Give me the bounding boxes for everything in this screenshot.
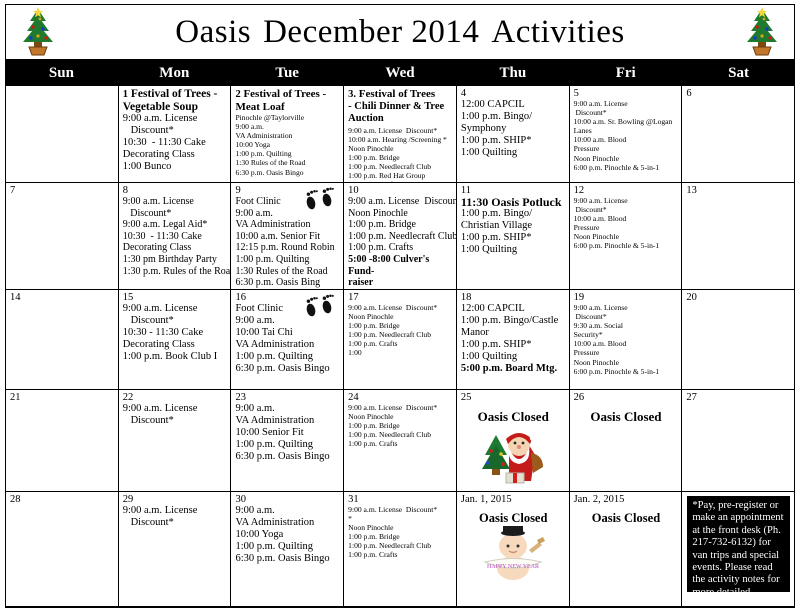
event-item: 1:00 (348, 348, 453, 357)
event-list: 9:00 a.m.VA Administration10:00 Yoga1:00… (235, 505, 340, 565)
event-item: 10:30 - 11:30 Cake (123, 327, 228, 339)
event-item: 9:30 a.m. Social (574, 321, 679, 330)
event-item: Noon Pinochle (574, 154, 679, 163)
christmas-tree-icon (16, 7, 60, 57)
day-number: 30 (235, 494, 340, 505)
event-item: Decorating Class (123, 339, 228, 351)
event-item: Noon Pinochle (348, 208, 453, 220)
calendar-day-cell[interactable]: 26Oasis Closed (570, 390, 683, 491)
calendar-day-cell[interactable]: 28 (6, 492, 119, 606)
event-item: 6:30 p.m. Oasis Bingo (235, 168, 340, 177)
weekday-header-row: SunMonTueWedThuFriSat (5, 60, 795, 86)
event-item: 1:30 p.m. Rules of the Road (123, 266, 228, 278)
event-item: Decorating Class (123, 149, 228, 161)
event-item: 9:00 a.m. License Discount* (348, 505, 453, 514)
event-item: 10:00 Senior Fit (235, 427, 340, 439)
weekday-header-fri: Fri (569, 65, 682, 82)
event-item: Noon Pinochle (348, 412, 453, 421)
event-list: 9:00 a.m. License Discount**Noon Pinochl… (348, 505, 453, 560)
santa-with-tree-image (476, 425, 550, 487)
event-list: 9:00 a.m. License Discount*10:00 a.m. Sr… (574, 99, 679, 172)
event-item: 1:00 p.m. Needlecraft Club (348, 330, 453, 339)
day-number: 8 (123, 185, 228, 196)
day-number: 27 (686, 392, 791, 403)
event-list: 9:00 a.m. License Discount* (123, 403, 228, 427)
legend-note-box: *Pay, pre-register or make an appointmen… (687, 496, 790, 592)
day-number: 17 (348, 292, 453, 303)
event-list: 9:00 a.m. License Discount*10:00 a.m. He… (348, 126, 453, 183)
event-item: Noon Pinochle (348, 312, 453, 321)
event-item: 9:00 a.m. License (123, 303, 228, 315)
event-item: Noon Pinochle (574, 232, 679, 241)
day-number: 19 (574, 292, 679, 303)
day-number: 18 (461, 292, 566, 303)
event-item: 1:00 p.m. Quilting (235, 254, 340, 266)
event-item: 1:00 p.m. Bingo/ (461, 208, 566, 220)
event-item: 1:00 p.m. Bridge (348, 532, 453, 541)
event-highlight: 11:30 Oasis Potluck (461, 196, 566, 208)
event-list: 9:00 a.m. License Discount*10:00 a.m. Bl… (574, 196, 679, 251)
event-list: 12:00 CAPCIL1:00 p.m. Bingo/CastleManor1… (461, 303, 566, 363)
event-list: 9:00 a.m. License Discount* (123, 505, 228, 529)
event-item: Discount* (123, 208, 228, 220)
calendar-day-cell[interactable]: 13 (682, 183, 794, 289)
event-item: 10:00 a.m. Blood (574, 135, 679, 144)
event-item: 9:00 a.m. (235, 403, 340, 415)
day-number: 6 (686, 88, 791, 99)
event-item: 1:00 p.m. Crafts (348, 180, 453, 182)
event-list: 9:00 a.m. License Discount*Noon Pinochle… (348, 196, 453, 254)
calendar-day-cell[interactable]: 27 (682, 390, 794, 491)
event-item: Pressure (574, 223, 679, 232)
event-item: 9:00 a.m. Legal Aid* (123, 219, 228, 231)
event-item: 1:00 p.m. Needlecraft Club (348, 231, 453, 243)
new-year-baby-image: HAPPY NEW YEAR (477, 526, 549, 582)
weekday-header-tue: Tue (231, 65, 344, 82)
title-month: December 2014 (263, 14, 479, 50)
event-item: 9:00 a.m. License Discount* (348, 303, 453, 312)
day-header-with-title: 3. Festival of Trees (348, 88, 453, 101)
event-item: * (348, 514, 453, 523)
event-item: 9:00 a.m. License Discount* (348, 403, 453, 412)
svg-text:HAPPY NEW YEAR: HAPPY NEW YEAR (487, 564, 539, 570)
event-item: Noon Pinochle (348, 144, 453, 153)
event-item: 1:00 p.m. Quilting (235, 541, 340, 553)
calendar-week-row: 14159:00 a.m. License Discount*10:30 - 1… (6, 290, 794, 390)
event-item: 10:30 - 11:30 Cake (123, 231, 228, 243)
event-list: 9:00 a.m.VA Administration10:00 Senior F… (235, 403, 340, 463)
event-item: 1:00 Quilting (461, 147, 566, 159)
calendar-day-cell[interactable]: 412:00 CAPCIL1:00 p.m. Bingo/Symphony1:0… (457, 86, 570, 182)
event-item: Lanes (574, 126, 679, 135)
weekday-header-mon: Mon (118, 65, 231, 82)
calendar-day-cell[interactable]: Jan. 1, 2015Oasis ClosedHAPPY NEW YEAR (457, 492, 570, 606)
calendar-day-cell[interactable]: 25Oasis Closed (457, 390, 570, 491)
day-number: 28 (10, 494, 115, 505)
title-org: Oasis (175, 14, 251, 50)
event-item: 1:00 p.m. Red Hat Group (348, 171, 453, 180)
event-item: Pressure (574, 144, 679, 153)
calendar-day-cell[interactable]: 199:00 a.m. License Discount*9:30 a.m. S… (570, 290, 683, 389)
event-item: 1:00 p.m. Quilting (235, 149, 340, 158)
event-item: Symphony (461, 123, 566, 135)
event-item: VA Administration (235, 131, 340, 140)
calendar-day-cell[interactable]: 1111:30 Oasis Potluck1:00 p.m. Bingo/Chr… (457, 183, 570, 289)
calendar-day-cell[interactable]: 319:00 a.m. License Discount**Noon Pinoc… (344, 492, 457, 606)
weekday-header-sat: Sat (682, 65, 795, 82)
calendar-day-cell[interactable]: 21 (6, 390, 119, 491)
event-item: 1:00 p.m. SHIP* (461, 232, 566, 244)
event-list: Pinochle @Taylorville9:00 a.m.VA Adminis… (235, 113, 340, 177)
calendar-day-cell-empty[interactable]: *Pay, pre-register or make an appointmen… (682, 492, 794, 606)
day-number: 21 (10, 392, 115, 403)
day-title: Festival of Trees (359, 88, 435, 100)
event-highlight: 5:00 -8:00 Culver's Fund- (348, 254, 453, 277)
event-item: 9:00 a.m. License Discount* (348, 196, 453, 208)
event-item: 1:00 p.m. Crafts (348, 550, 453, 559)
event-item: Manor (461, 327, 566, 339)
day-number: 25 (461, 392, 566, 403)
event-item: 1:00 p.m. Bridge (348, 321, 453, 330)
event-item: 10:00 a.m. Hearing /Screening * (348, 135, 453, 144)
event-list: 9:00 a.m. License Discount*Noon Pinochle… (348, 303, 453, 358)
event-item: 12:00 CAPCIL (461, 303, 566, 315)
weekday-header-sun: Sun (5, 65, 118, 82)
event-highlight: 5:00 p.m. Board Mtg. (461, 363, 566, 375)
calendar-day-cell[interactable]: 309:00 a.m.VA Administration10:00 Yoga1:… (231, 492, 344, 606)
calendar-day-cell-empty[interactable] (6, 86, 119, 182)
day-number: 13 (686, 185, 791, 196)
date-label: Jan. 1, 2015 (461, 494, 566, 505)
calendar-week-row: 21229:00 a.m. License Discount*239:00 a.… (6, 390, 794, 492)
event-item: 12:15 p.m. Round Robin (235, 242, 340, 254)
event-item: 9:00 a.m. License (123, 113, 228, 125)
event-item: 9:00 a.m. License (123, 196, 228, 208)
day-number: 3. (348, 89, 356, 100)
day-number: 20 (686, 292, 791, 303)
day-number: 14 (10, 292, 115, 303)
weekday-header-wed: Wed (344, 65, 457, 82)
event-item: 1:00 p.m. Quilting (235, 351, 340, 363)
event-item: Discount* (574, 312, 679, 321)
event-item: 1:00 p.m. Quilting (235, 439, 340, 451)
event-item: Pressure (574, 348, 679, 357)
event-item: 6:30 p.m. Oasis Bingo (235, 553, 340, 565)
event-item: 10:00 a.m. Senior Fit (235, 231, 340, 243)
event-item: Discount* (574, 108, 679, 117)
calendar-day-cell[interactable]: 1812:00 CAPCIL1:00 p.m. Bingo/CastleMano… (457, 290, 570, 389)
day-number: 15 (123, 292, 228, 303)
day-number: 31 (348, 494, 453, 505)
calendar-day-cell[interactable]: 159:00 a.m. License Discount*10:30 - 11:… (119, 290, 232, 389)
day-number: 23 (235, 392, 340, 403)
event-item: 9:00 a.m. License (574, 303, 679, 312)
event-item: 9:00 a.m. License (574, 196, 679, 205)
event-item: 1:00 p.m. Crafts (348, 439, 453, 448)
event-item: Noon Pinochle (348, 523, 453, 532)
day-number: 26 (574, 392, 679, 403)
calendar-day-cell[interactable]: Jan. 2, 2015Oasis Closed (570, 492, 683, 606)
calendar-week-row: 1 Festival of Trees - Vegetable Soup9:00… (6, 86, 794, 183)
event-item: Discount* (574, 205, 679, 214)
day-title: Festival of Trees - Vegetable Soup (123, 88, 218, 113)
day-number: 29 (123, 494, 228, 505)
event-item: 10:00 Tai Chi (235, 327, 340, 339)
event-item: 1:00 p.m. Needlecraft Club (348, 162, 453, 171)
event-item: 1:00 p.m. Needlecraft Club (348, 541, 453, 550)
event-item: 6:30 p.m. Oasis Bingo (235, 363, 340, 375)
event-item: 1:00 p.m. SHIP* (461, 339, 566, 351)
calendar-day-cell[interactable]: 239:00 a.m.VA Administration10:00 Senior… (231, 390, 344, 491)
event-item: 10:00 Yoga (235, 529, 340, 541)
event-item: 10:30 - 11:30 Cake (123, 137, 228, 149)
calendar-day-cell[interactable]: 299:00 a.m. License Discount* (119, 492, 232, 606)
event-item: 1:00 Quilting (461, 244, 566, 256)
event-item: 9:00 a.m. (235, 505, 340, 517)
event-item: 1:30 Rules of the Road (235, 158, 340, 167)
closed-notice: Oasis Closed (461, 409, 566, 425)
day-number: 2 (235, 89, 240, 100)
event-list: 9:00 a.m. License Discount*9:00 a.m. Leg… (123, 196, 228, 277)
event-item: VA Administration (235, 219, 340, 231)
footprints-icon (303, 187, 337, 213)
weekday-header-thu: Thu (456, 65, 569, 82)
christmas-tree-icon (740, 7, 784, 57)
calendar-page: OasisDecember 2014Activities SunMonTueWe… (0, 0, 800, 606)
day-header-with-title: 2 Festival of Trees - Meat Loaf (235, 88, 340, 113)
event-item: 9:00 a.m. License (574, 99, 679, 108)
event-item: 10:00 Yoga (235, 140, 340, 149)
calendar-day-cell[interactable]: 179:00 a.m. License Discount*Noon Pinoch… (344, 290, 457, 389)
calendar-day-cell[interactable]: 20 (682, 290, 794, 389)
event-item: 1:00 p.m. Book Club I (123, 351, 228, 363)
event-item: Noon Pinochle (574, 358, 679, 367)
day-header-with-title: 1 Festival of Trees - Vegetable Soup (123, 88, 228, 113)
calendar-day-cell[interactable]: 129:00 a.m. License Discount*10:00 a.m. … (570, 183, 683, 289)
day-title-second-line: - Chili Dinner & Tree Auction (348, 101, 453, 126)
calendar-day-cell[interactable]: 9Foot Clinic9:00 a.m.VA Administration10… (231, 183, 344, 289)
event-list: 1:00 p.m. Bingo/Christian Village1:00 p.… (461, 208, 566, 256)
calendar-week-row: 28299:00 a.m. License Discount*309:00 a.… (6, 492, 794, 606)
event-list: 9:00 a.m. License Discount*10:30 - 11:30… (123, 303, 228, 363)
event-item: 1:00 Bunco (123, 161, 228, 173)
day-number: 22 (123, 392, 228, 403)
event-item: Christian Village (461, 220, 566, 232)
event-item: 12:00 CAPCIL (461, 99, 566, 111)
closed-notice: Oasis Closed (461, 511, 566, 526)
calendar-banner: OasisDecember 2014Activities (5, 4, 795, 60)
event-item: 1:00 p.m. SHIP* (461, 135, 566, 147)
calendar-week-row: 789:00 a.m. License Discount*9:00 a.m. L… (6, 183, 794, 290)
closed-notice: Oasis Closed (574, 511, 679, 526)
event-item: 9:00 a.m. License (123, 505, 228, 517)
event-list: 9:00 a.m. License Discount*Noon Pinochle… (348, 403, 453, 448)
calendar-day-cell[interactable]: 7 (6, 183, 119, 289)
event-item: 1:00 p.m. Bridge (348, 153, 453, 162)
event-list: 9:00 a.m. License Discount*10:30 - 11:30… (123, 113, 228, 173)
event-item: Discount* (123, 315, 228, 327)
event-item: 1:00 p.m. Bingo/ (461, 111, 566, 123)
day-number: 24 (348, 392, 453, 403)
event-item: 1:30 Rules of the Road (235, 266, 340, 278)
event-item: 6:30 p.m. Oasis Bing (235, 277, 340, 289)
event-item: VA Administration (235, 339, 340, 351)
event-item: VA Administration (235, 415, 340, 427)
day-number: 12 (574, 185, 679, 196)
day-number: 4 (461, 88, 566, 99)
event-item: Decorating Class (123, 242, 228, 254)
calendar-day-cell[interactable]: 59:00 a.m. License Discount*10:00 a.m. S… (570, 86, 683, 182)
calendar-grid: 1 Festival of Trees - Vegetable Soup9:00… (5, 86, 795, 608)
event-item: Security* (574, 330, 679, 339)
event-item: Discount* (123, 415, 228, 427)
calendar-day-cell[interactable]: 89:00 a.m. License Discount*9:00 a.m. Le… (119, 183, 232, 289)
event-item: 1:00 Quilting (461, 351, 566, 363)
calendar-day-cell[interactable]: 3. Festival of Trees- Chili Dinner & Tre… (344, 86, 457, 182)
event-item: 1:00 p.m. Bingo/Castle (461, 315, 566, 327)
event-list: 12:00 CAPCIL1:00 p.m. Bingo/Symphony1:00… (461, 99, 566, 159)
day-number: 10 (348, 185, 453, 196)
closed-notice: Oasis Closed (574, 409, 679, 425)
event-item: Discount* (123, 517, 228, 529)
calendar-day-cell[interactable]: 16Foot Clinic9:00 a.m.10:00 Tai ChiVA Ad… (231, 290, 344, 389)
event-item: 1:00 p.m. Crafts (348, 242, 453, 254)
event-highlight: raiser (348, 277, 453, 289)
event-item: 10:00 a.m. Sr. Bowling @Logan (574, 117, 679, 126)
event-item: 9:00 a.m. License (123, 403, 228, 415)
event-item: VA Administration (235, 517, 340, 529)
event-item: 6:00 p.m. Pinochle & 5-in-1 (574, 163, 679, 172)
event-item: 6:00 p.m. Pinochle & 5-in-1 (574, 241, 679, 250)
calendar-day-cell[interactable]: 109:00 a.m. License Discount*Noon Pinoch… (344, 183, 457, 289)
calendar-day-cell[interactable]: 229:00 a.m. License Discount* (119, 390, 232, 491)
event-item: Pinochle @Taylorville (235, 113, 340, 122)
event-item: 9:00 a.m. License Discount* (348, 126, 453, 135)
event-item: 1:00 p.m. Needlecraft Club (348, 430, 453, 439)
calendar-day-cell[interactable]: 249:00 a.m. License Discount*Noon Pinoch… (344, 390, 457, 491)
event-item: 10:00 a.m. Blood (574, 339, 679, 348)
calendar-day-cell[interactable]: 1 Festival of Trees - Vegetable Soup9:00… (119, 86, 232, 182)
event-item: 1:00 p.m. Bridge (348, 219, 453, 231)
event-item: Discount* (123, 125, 228, 137)
page-title: OasisDecember 2014Activities (60, 14, 740, 51)
event-item: 1:00 p.m. Crafts (348, 339, 453, 348)
day-number: 5 (574, 88, 679, 99)
event-item: 10:00 a.m. Blood (574, 214, 679, 223)
footprints-icon (303, 294, 337, 320)
title-activities: Activities (491, 14, 624, 50)
calendar-day-cell[interactable]: 14 (6, 290, 119, 389)
event-item: 9:00 a.m. (235, 122, 340, 131)
calendar-day-cell[interactable]: 6 (682, 86, 794, 182)
event-item: 6:30 p.m. Oasis Bingo (235, 451, 340, 463)
event-item: 1:30 pm Birthday Party (123, 254, 228, 266)
date-label: Jan. 2, 2015 (574, 494, 679, 505)
event-item: 6:00 p.m. Pinochle & 5-in-1 (574, 367, 679, 376)
event-list: 9:00 a.m. License Discount*9:30 a.m. Soc… (574, 303, 679, 376)
calendar-day-cell[interactable]: 2 Festival of Trees - Meat LoafPinochle … (231, 86, 344, 182)
event-item: 1:00 p.m. Bridge (348, 421, 453, 430)
day-number: 7 (10, 185, 115, 196)
day-title: Festival of Trees - Meat Loaf (235, 88, 326, 113)
